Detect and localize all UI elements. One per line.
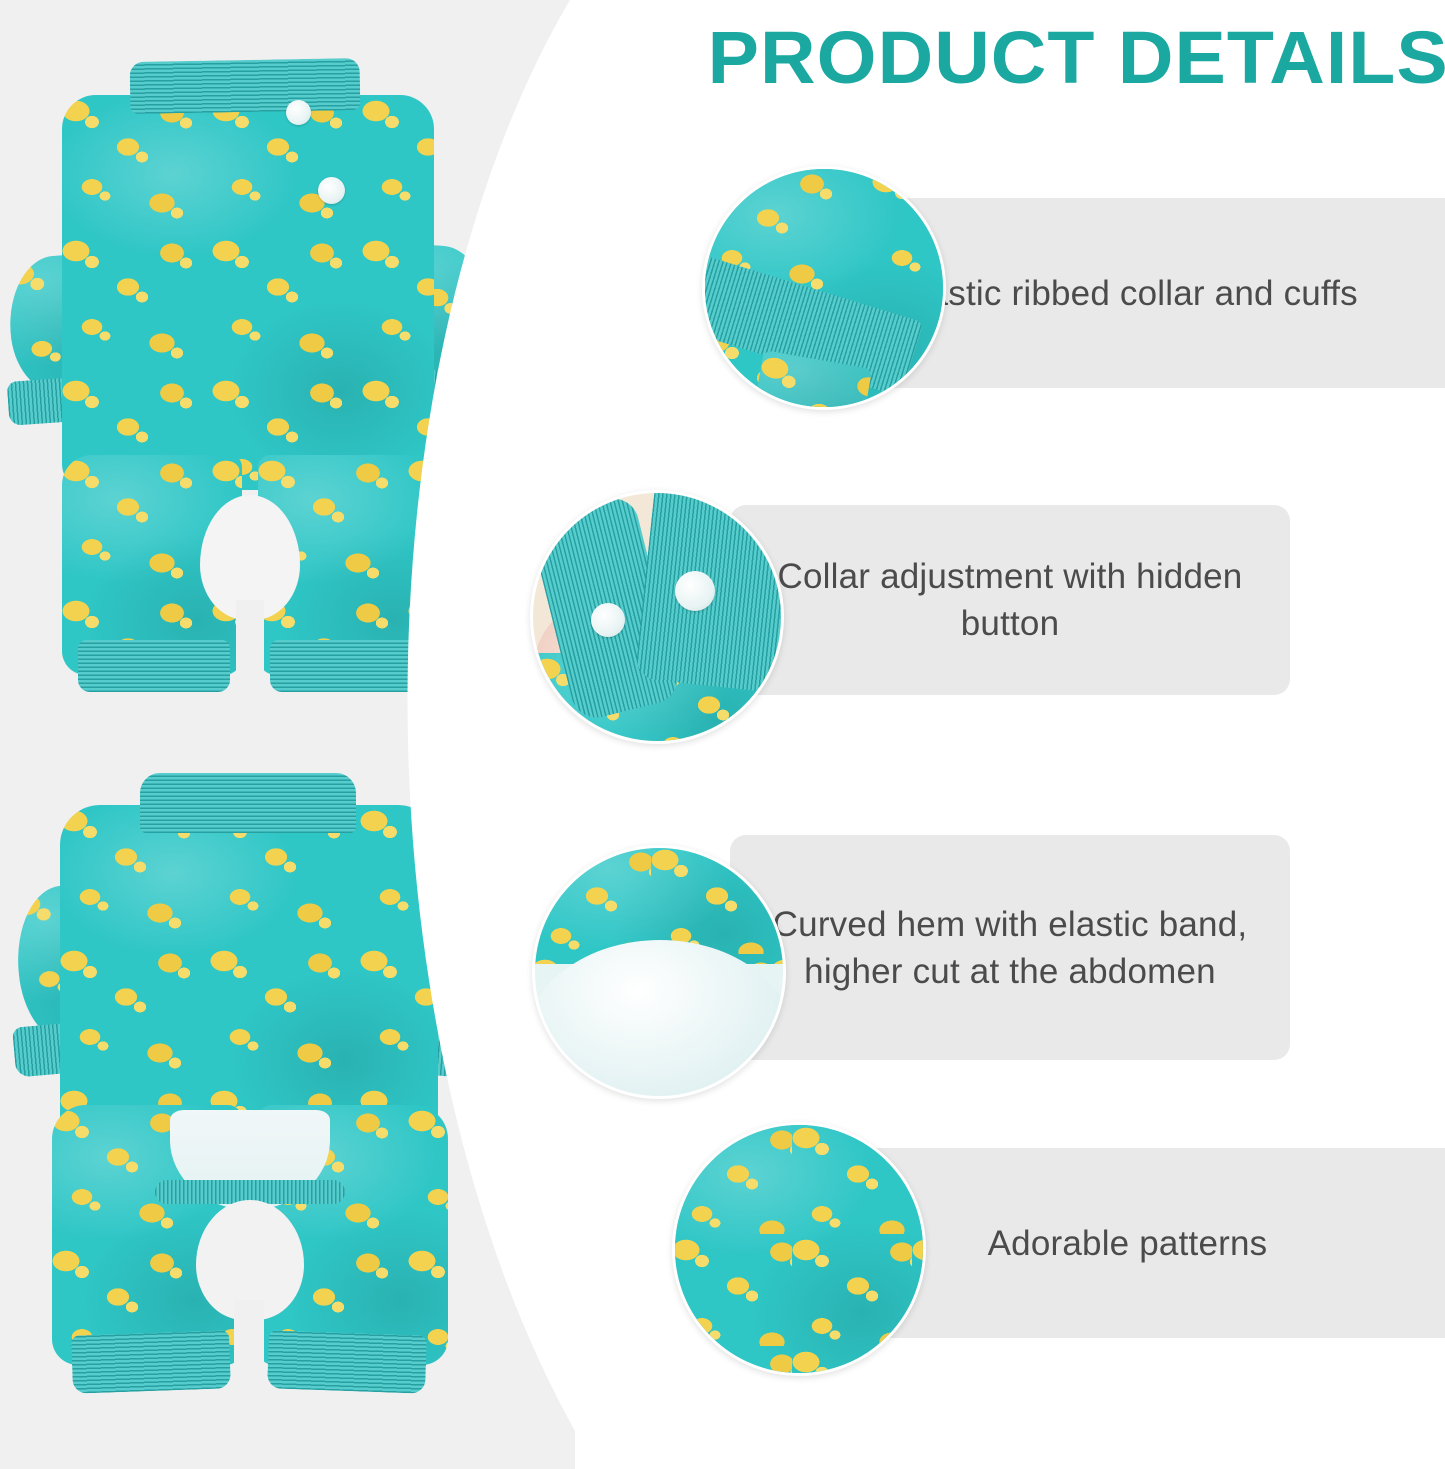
feature-photo-1	[702, 166, 946, 410]
feature-caption-panel-3: Curved hem with elastic band, higher cut…	[730, 835, 1290, 1060]
feature-photo-2-snap-button-right	[675, 571, 715, 611]
torso-2	[60, 805, 438, 1145]
page-title: PRODUCT DETAILS	[683, 18, 1445, 98]
hind-cuff-left	[78, 640, 230, 692]
product-details-infographic: PRODUCT DETAILS Elastic ribbed collar an…	[0, 0, 1445, 1469]
feature-photo-2-snap-button-left	[591, 603, 625, 637]
features-column: PRODUCT DETAILS Elastic ribbed collar an…	[620, 0, 1445, 1469]
feature-caption-4: Adorable patterns	[970, 1220, 1286, 1267]
ribbed-collar	[130, 58, 361, 114]
feature-caption-1: Elastic ribbed collar and cuffs	[879, 270, 1376, 317]
feature-photo-4-fabric	[672, 1122, 926, 1376]
crotch-gap	[236, 600, 264, 700]
hind-cuff-left-2	[71, 1330, 231, 1393]
crotch-gap-2	[234, 1300, 264, 1390]
snap-button-upper	[286, 100, 311, 125]
feature-caption-panel-2: Collar adjustment with hidden button	[730, 505, 1290, 695]
feature-caption-3: Curved hem with elastic band, higher cut…	[730, 901, 1290, 995]
hind-cuff-right	[270, 640, 422, 692]
hind-cuff-right-2	[267, 1330, 427, 1393]
feature-photo-4	[672, 1122, 926, 1376]
snap-button-lower	[318, 177, 345, 204]
feature-photo-2	[530, 490, 784, 744]
torso	[62, 95, 434, 490]
ribbed-collar-2	[140, 773, 356, 833]
feature-caption-2: Collar adjustment with hidden button	[730, 553, 1290, 647]
feature-photo-3	[532, 845, 786, 1099]
